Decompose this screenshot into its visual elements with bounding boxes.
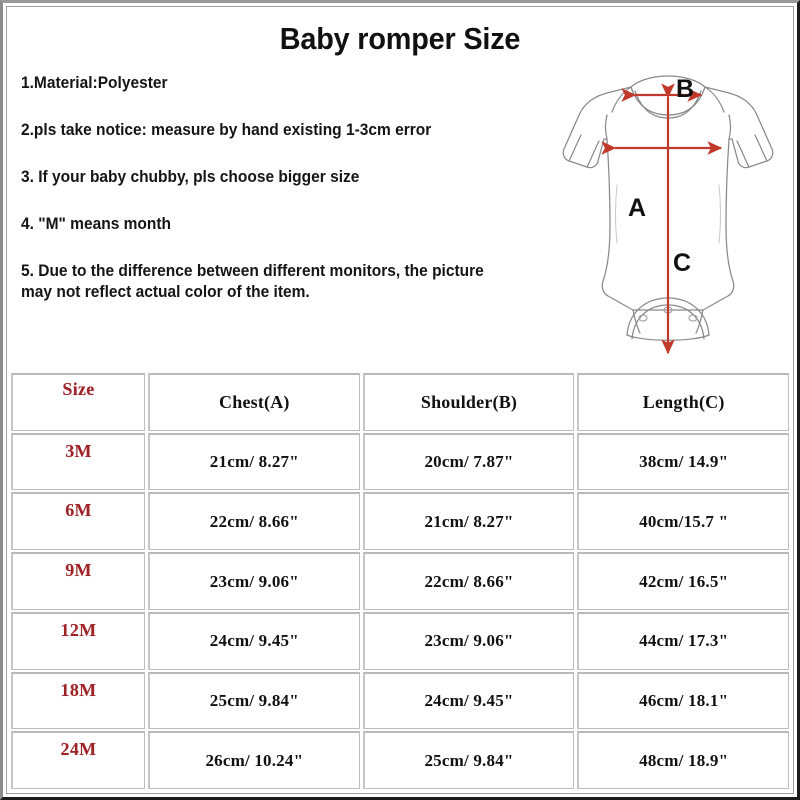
page-title: Baby romper Size <box>35 21 766 57</box>
cell-chest: 23cm/ 9.06" <box>148 552 360 610</box>
dimension-label-chest: A <box>628 196 646 221</box>
cell-length: 40cm/15.7 " <box>577 492 789 550</box>
table-row: 12M 24cm/ 9.45" 23cm/ 9.06" 44cm/ 17.3" <box>11 610 789 670</box>
table-row: 24M 26cm/ 10.24" 25cm/ 9.84" 48cm/ 18.9" <box>11 729 789 789</box>
cell-size: 18M <box>11 672 145 730</box>
cell-shoulder: 21cm/ 8.27" <box>363 492 575 550</box>
header-label-length: Length(C) <box>643 392 725 413</box>
length-value: 42cm/ 16.5" <box>639 572 728 592</box>
cell-size: 6M <box>11 492 145 550</box>
header-cell-length: Length(C) <box>577 373 789 431</box>
length-value: 38cm/ 14.9" <box>639 452 728 472</box>
size-label: 18M <box>61 674 97 701</box>
notes-list: 1.Material:Polyester 2.pls take notice: … <box>21 73 531 303</box>
cell-length: 44cm/ 17.3" <box>577 612 789 670</box>
size-label: 9M <box>65 554 92 581</box>
chest-value: 24cm/ 9.45" <box>210 631 299 651</box>
cell-size: 9M <box>11 552 145 610</box>
length-value: 40cm/15.7 " <box>639 512 728 532</box>
size-label: 12M <box>61 614 97 641</box>
cell-shoulder: 20cm/ 7.87" <box>363 433 575 491</box>
cell-shoulder: 23cm/ 9.06" <box>363 612 575 670</box>
length-value: 48cm/ 18.9" <box>639 751 728 771</box>
shoulder-value: 22cm/ 8.66" <box>424 572 513 592</box>
cell-size: 3M <box>11 433 145 491</box>
header-cell-chest: Chest(A) <box>148 373 360 431</box>
header-label-shoulder: Shoulder(B) <box>421 392 517 413</box>
header-label-size: Size <box>62 375 94 400</box>
cell-length: 48cm/ 18.9" <box>577 731 789 789</box>
note-item-4: 4. "M" means month <box>21 214 500 235</box>
cell-chest: 22cm/ 8.66" <box>148 492 360 550</box>
cell-length: 38cm/ 14.9" <box>577 433 789 491</box>
size-chart-page: Baby romper Size 1.Material:Polyester 2.… <box>0 0 800 800</box>
size-label: 6M <box>65 494 92 521</box>
table-row: 18M 25cm/ 9.84" 24cm/ 9.45" 46cm/ 18.1" <box>11 670 789 730</box>
chest-value: 22cm/ 8.66" <box>210 512 299 532</box>
chest-value: 25cm/ 9.84" <box>210 691 299 711</box>
shoulder-value: 23cm/ 9.06" <box>424 631 513 651</box>
romper-diagram: B A C <box>543 65 793 365</box>
dimension-label-length: C <box>673 251 691 276</box>
cell-size: 24M <box>11 731 145 789</box>
header-cell-size: Size <box>11 373 145 431</box>
cell-shoulder: 22cm/ 8.66" <box>363 552 575 610</box>
cell-size: 12M <box>11 612 145 670</box>
cell-shoulder: 25cm/ 9.84" <box>363 731 575 789</box>
note-item-5: 5. Due to the difference between differe… <box>21 261 500 303</box>
table-row: 6M 22cm/ 8.66" 21cm/ 8.27" 40cm/15.7 " <box>11 490 789 550</box>
shoulder-value: 20cm/ 7.87" <box>424 452 513 472</box>
length-value: 44cm/ 17.3" <box>639 631 728 651</box>
table-header-row: Size Chest(A) Shoulder(B) Length(C) <box>11 371 789 431</box>
cell-chest: 21cm/ 8.27" <box>148 433 360 491</box>
header-label-chest: Chest(A) <box>219 392 290 413</box>
cell-length: 46cm/ 18.1" <box>577 672 789 730</box>
cell-chest: 25cm/ 9.84" <box>148 672 360 730</box>
page-inner-frame: Baby romper Size 1.Material:Polyester 2.… <box>6 6 794 794</box>
cell-chest: 26cm/ 10.24" <box>148 731 360 789</box>
size-label: 3M <box>65 435 92 462</box>
chest-value: 21cm/ 8.27" <box>210 452 299 472</box>
dimension-label-shoulder: B <box>676 77 694 102</box>
header-cell-shoulder: Shoulder(B) <box>363 373 575 431</box>
note-item-3: 3. If your baby chubby, pls choose bigge… <box>21 167 500 188</box>
table-row: 3M 21cm/ 8.27" 20cm/ 7.87" 38cm/ 14.9" <box>11 431 789 491</box>
note-item-1: 1.Material:Polyester <box>21 73 500 94</box>
cell-shoulder: 24cm/ 9.45" <box>363 672 575 730</box>
chest-value: 23cm/ 9.06" <box>210 572 299 592</box>
length-value: 46cm/ 18.1" <box>639 691 728 711</box>
shoulder-value: 25cm/ 9.84" <box>424 751 513 771</box>
shoulder-value: 24cm/ 9.45" <box>424 691 513 711</box>
cell-length: 42cm/ 16.5" <box>577 552 789 610</box>
note-item-2: 2.pls take notice: measure by hand exist… <box>21 120 500 141</box>
size-label: 24M <box>61 733 97 760</box>
shoulder-value: 21cm/ 8.27" <box>424 512 513 532</box>
table-row: 9M 23cm/ 9.06" 22cm/ 8.66" 42cm/ 16.5" <box>11 550 789 610</box>
cell-chest: 24cm/ 9.45" <box>148 612 360 670</box>
chest-value: 26cm/ 10.24" <box>205 751 303 771</box>
size-table: Size Chest(A) Shoulder(B) Length(C) 3M 2… <box>11 371 789 789</box>
